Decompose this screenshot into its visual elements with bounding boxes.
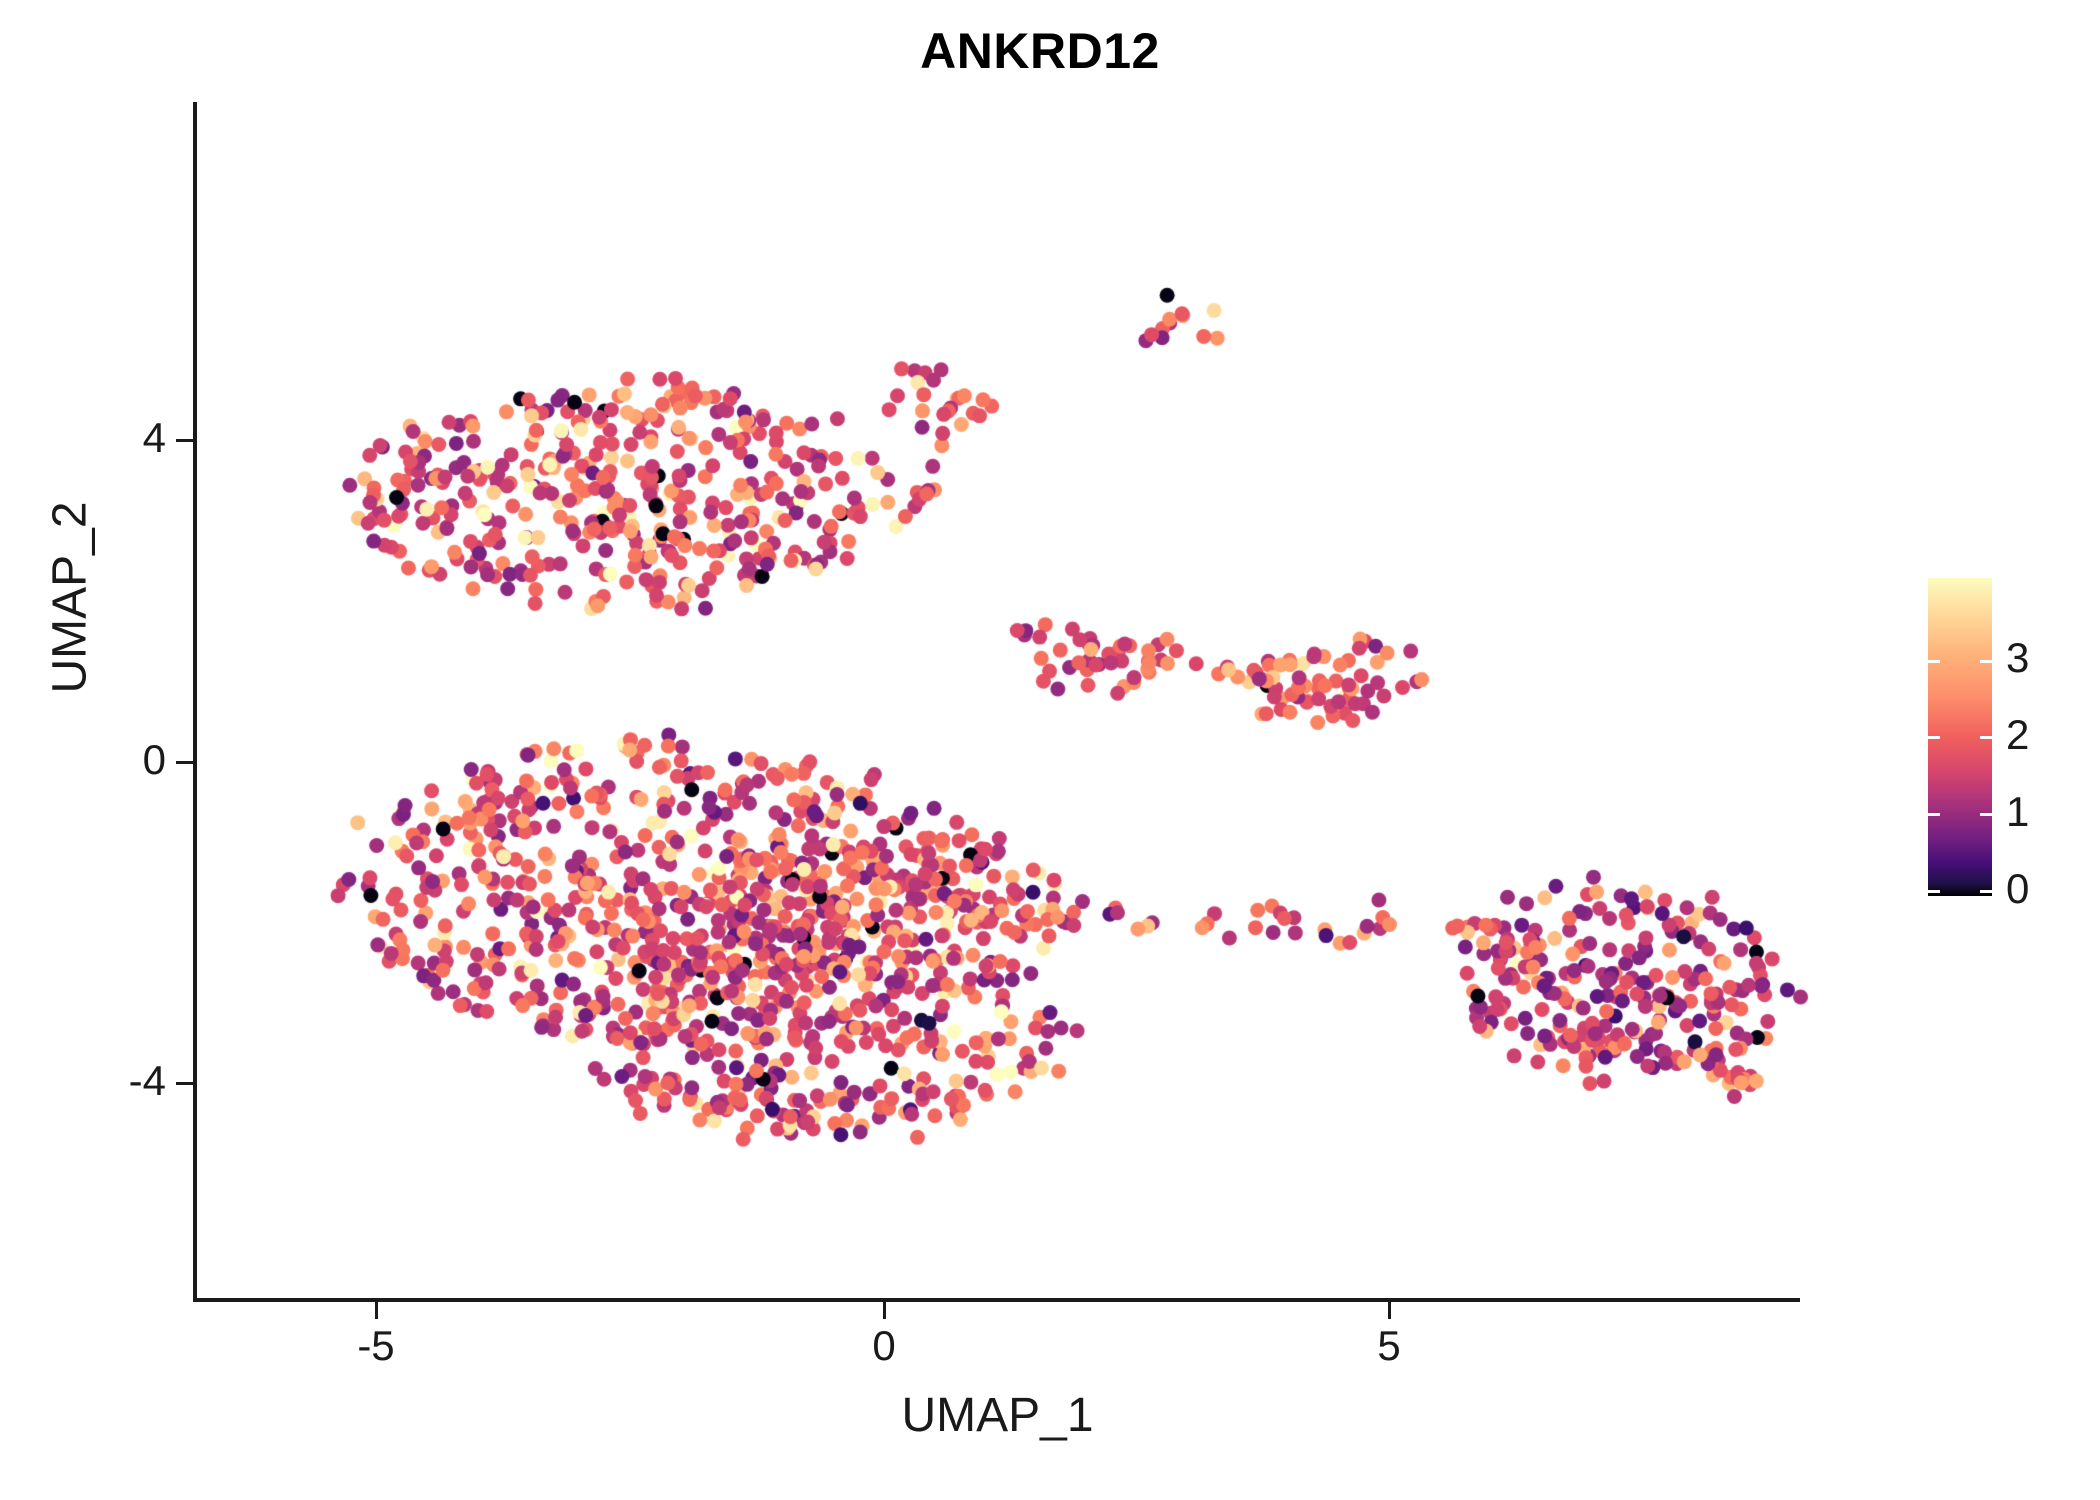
colorbar-tick (1980, 660, 1992, 663)
y-axis-title: UMAP_2 (43, 298, 98, 898)
y-tick-label: -4 (56, 1057, 166, 1105)
x-tick-label: 0 (824, 1322, 944, 1370)
x-tick-label: 5 (1329, 1322, 1449, 1370)
colorbar-tick (1928, 890, 1940, 893)
colorbar-tick (1980, 890, 1992, 893)
y-tick-mark (176, 1082, 193, 1085)
colorbar-label: 0 (2006, 865, 2029, 913)
colorbar-label: 1 (2006, 788, 2029, 836)
x-axis-line (193, 1298, 1800, 1302)
colorbar-label: 2 (2006, 711, 2029, 759)
plot-panel (195, 102, 1800, 1300)
x-tick-label: -5 (316, 1322, 436, 1370)
y-tick-mark (176, 439, 193, 442)
colorbar-tick (1980, 736, 1992, 739)
y-tick-mark (176, 761, 193, 764)
y-axis-line (193, 102, 197, 1302)
colorbar-tick (1928, 736, 1940, 739)
x-tick-mark (883, 1302, 886, 1319)
colorbar-tick (1980, 813, 1992, 816)
page-title: ANKRD12 (0, 22, 2080, 80)
colorbar-legend: 3 2 1 0 (1920, 560, 2090, 920)
x-axis-title: UMAP_1 (195, 1388, 1800, 1443)
colorbar-tick (1928, 813, 1940, 816)
umap-feature-plot: ANKRD12 -5 0 5 4 0 -4 UMAP_1 UMAP_2 3 2 … (0, 0, 2100, 1500)
x-tick-mark (375, 1302, 378, 1319)
x-tick-mark (1388, 1302, 1391, 1319)
colorbar-label: 3 (2006, 634, 2029, 682)
colorbar-tick (1928, 660, 1940, 663)
